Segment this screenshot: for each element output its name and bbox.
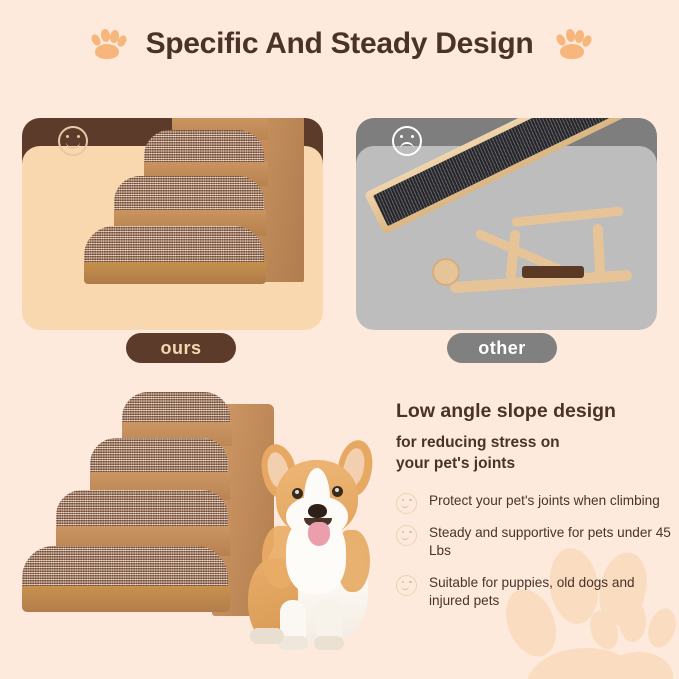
feature-bullet-label: Steady and supportive for pets under 45 … — [429, 525, 671, 558]
comparison-panel-ours — [22, 118, 323, 330]
sad-face-icon — [392, 126, 422, 156]
panel-label-ours: ours — [126, 333, 236, 363]
paw-icon-right — [553, 26, 591, 62]
paw-icon-left — [88, 26, 126, 62]
feature-heading: Low angle slope design — [396, 400, 671, 422]
product-image-pet-stairs-ours — [84, 118, 323, 302]
page-title: Specific And Steady Design — [146, 27, 534, 61]
infographic-page: Specific And Steady Design — [0, 0, 679, 679]
feature-bullet-3: Suitable for puppies, old dogs and injur… — [396, 574, 671, 610]
smiley-face-icon — [396, 493, 417, 514]
comparison-panel-other — [356, 118, 657, 330]
feature-bullet-1: Protect your pet's joints when climbing — [396, 492, 671, 510]
panel-label-other: other — [447, 333, 557, 363]
feature-copy-block: Low angle slope design for reducing stre… — [396, 400, 671, 624]
smiley-face-icon — [58, 126, 88, 156]
pet-image-corgi — [246, 438, 396, 650]
feature-subheading: for reducing stress on your pet's joints — [396, 433, 671, 475]
smiley-face-icon — [396, 525, 417, 546]
comparison-section — [0, 118, 679, 368]
page-header: Specific And Steady Design — [0, 18, 679, 70]
feature-bullet-label: Protect your pet's joints when climbing — [429, 493, 660, 508]
feature-bullet-2: Steady and supportive for pets under 45 … — [396, 524, 671, 560]
smiley-face-icon — [396, 575, 417, 596]
feature-bullet-label: Suitable for puppies, old dogs and injur… — [429, 575, 635, 608]
